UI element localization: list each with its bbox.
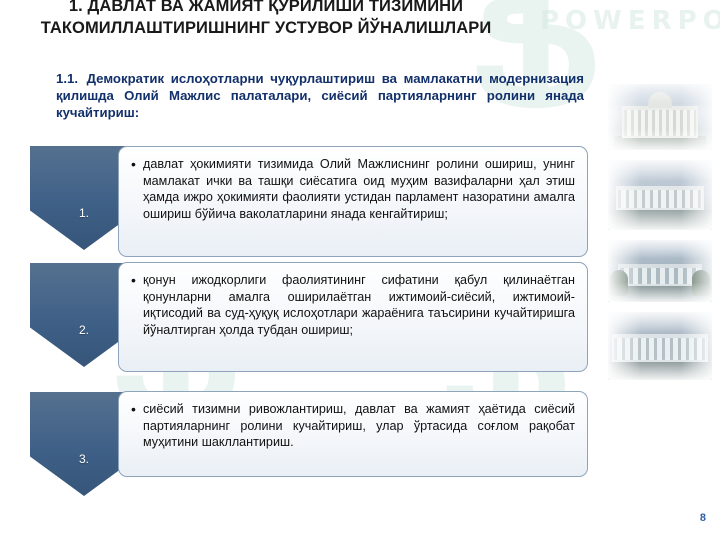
content-box-3: • сиёсий тизимни ривожлантириш, давлат в… [118, 391, 588, 477]
bullet-icon: • [131, 156, 143, 223]
section-heading: 1.1. Демократик ислоҳотларни чуқурлаштир… [56, 70, 584, 121]
photo-strip [608, 84, 712, 390]
section-text: Демократик ислоҳотларни чуқурлаштириш ва… [56, 71, 584, 120]
slide: 1. ДАВЛАТ ВА ЖАМИЯТ ҚУРИЛИШИ ТИЗИМИНИ ТА… [0, 0, 720, 540]
content-text-2: қонун ижодкорлиги фаолиятининг сифатини … [143, 272, 575, 339]
photo-facade-building [608, 312, 712, 380]
page-number: 8 [700, 512, 706, 524]
chevron-number-1: 1. [79, 206, 89, 220]
photo-government-building [608, 84, 712, 150]
bullet-icon: • [131, 272, 143, 339]
bullet-icon: • [131, 401, 143, 451]
section-number: 1.1. [56, 71, 78, 86]
photo-civic-building [608, 240, 712, 302]
content-box-2: • қонун ижодкорлиги фаолиятининг сифатин… [118, 262, 588, 372]
slide-title: 1. ДАВЛАТ ВА ЖАМИЯТ ҚУРИЛИШИ ТИЗИМИНИ ТА… [26, 0, 506, 40]
photo-parliament-building [608, 160, 712, 230]
chevron-number-2: 2. [79, 323, 89, 337]
content-text-3: сиёсий тизимни ривожлантириш, давлат ва … [143, 401, 575, 451]
content-box-1: • давлат ҳокимияти тизимида Олий Мажлисн… [118, 146, 588, 257]
chevron-number-3: 3. [79, 452, 89, 466]
content-text-1: давлат ҳокимияти тизимида Олий Мажлиснин… [143, 156, 575, 223]
